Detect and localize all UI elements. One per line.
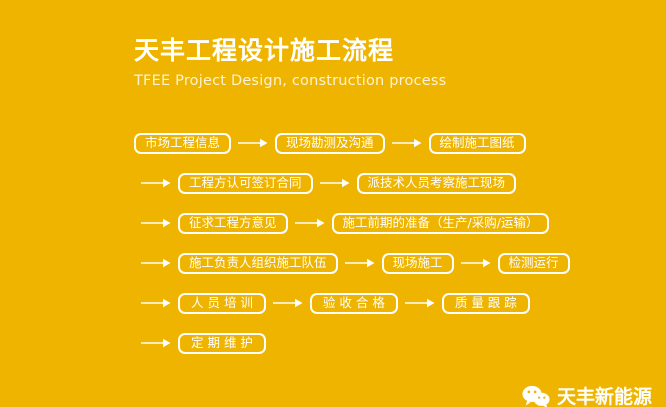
flow-arrow-icon <box>141 217 171 229</box>
flow-arrow-icon <box>295 217 325 229</box>
flow-step-pill[interactable]: 现场勘测及沟通 <box>275 133 385 154</box>
slide-canvas: 天丰工程设计施工流程 TFEE Project Design, construc… <box>0 0 666 407</box>
flow-step-pill[interactable]: 施工负责人组织施工队伍 <box>178 253 338 274</box>
flow-row: 征求工程方意见施工前期的准备（生产/采购/运输） <box>134 212 634 234</box>
flow-step-pill[interactable]: 施工前期的准备（生产/采购/运输） <box>332 213 550 234</box>
page-subtitle: TFEE Project Design, construction proces… <box>134 72 614 90</box>
flow-arrow-icon <box>273 297 303 309</box>
flow-arrow-icon <box>238 137 268 149</box>
flow-arrow-icon <box>141 257 171 269</box>
process-flow-diagram: 市场工程信息现场勘测及沟通绘制施工图纸工程方认可签订合同派技术人员考察施工现场征… <box>134 132 634 354</box>
flow-step-pill[interactable]: 绘制施工图纸 <box>429 133 526 154</box>
flow-step-pill[interactable]: 定 期 维 护 <box>178 333 266 354</box>
slide-header: 天丰工程设计施工流程 TFEE Project Design, construc… <box>134 34 614 90</box>
flow-step-pill[interactable]: 市场工程信息 <box>134 133 231 154</box>
flow-arrow-icon <box>141 337 171 349</box>
flow-row: 人 员 培 训验 收 合 格质 量 跟 踪 <box>134 292 634 314</box>
flow-arrow-icon <box>345 257 375 269</box>
flow-arrow-icon <box>461 257 491 269</box>
flow-step-pill[interactable]: 质 量 跟 踪 <box>442 293 530 314</box>
flow-arrow-icon <box>141 177 171 189</box>
flow-step-pill[interactable]: 检测运行 <box>498 253 570 274</box>
flow-arrow-icon <box>320 177 350 189</box>
flow-arrow-icon <box>392 137 422 149</box>
flow-step-pill[interactable]: 现场施工 <box>382 253 454 274</box>
flow-row: 市场工程信息现场勘测及沟通绘制施工图纸 <box>134 132 634 154</box>
footer-brand: 天丰新能源 <box>522 385 652 407</box>
page-title: 天丰工程设计施工流程 <box>134 34 614 68</box>
flow-row: 工程方认可签订合同派技术人员考察施工现场 <box>134 172 634 194</box>
flow-arrow-icon <box>405 297 435 309</box>
flow-step-pill[interactable]: 派技术人员考察施工现场 <box>357 173 517 194</box>
wechat-icon <box>522 385 550 407</box>
flow-row: 施工负责人组织施工队伍现场施工检测运行 <box>134 252 634 274</box>
flow-arrow-icon <box>141 297 171 309</box>
flow-step-pill[interactable]: 人 员 培 训 <box>178 293 266 314</box>
brand-name-label: 天丰新能源 <box>557 386 652 407</box>
flow-step-pill[interactable]: 验 收 合 格 <box>310 293 398 314</box>
flow-row: 定 期 维 护 <box>134 332 634 354</box>
flow-step-pill[interactable]: 工程方认可签订合同 <box>178 173 313 194</box>
flow-step-pill[interactable]: 征求工程方意见 <box>178 213 288 234</box>
